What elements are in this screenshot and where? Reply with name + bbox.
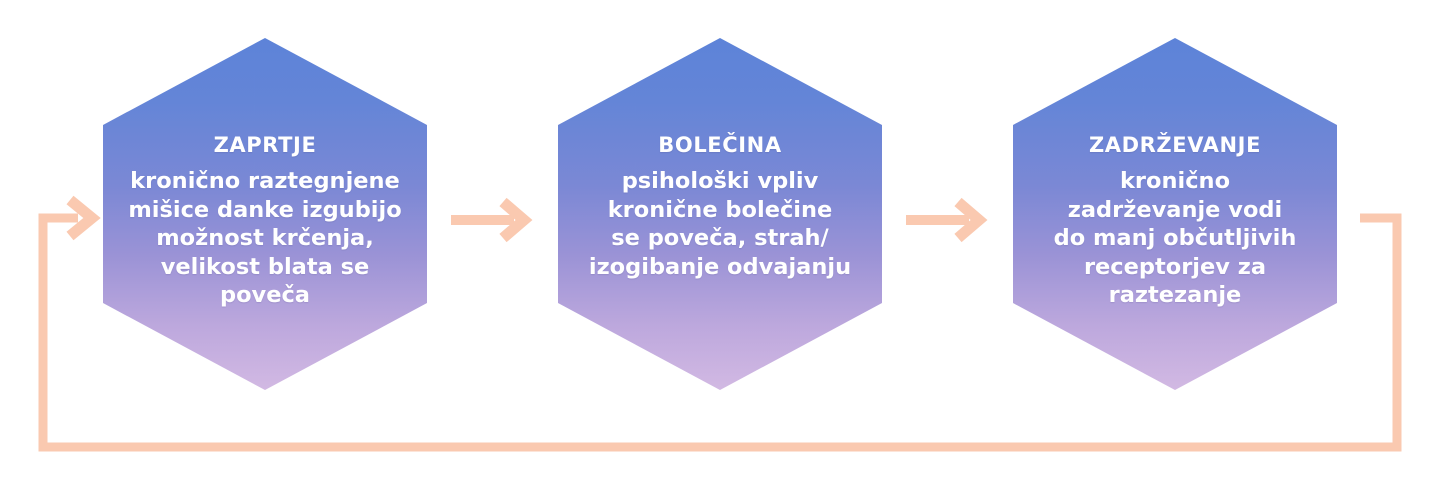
node-zaprtje-line: velikost blata se xyxy=(117,253,413,282)
node-zaprtje-line: mišice danke izgubijo xyxy=(117,196,413,225)
node-bolecina-line: se poveča, strah/ xyxy=(572,224,868,253)
arrow-bolecina-to-zadrzevanje xyxy=(903,194,999,246)
node-zaprtje-line: poveča xyxy=(117,281,413,310)
node-bolecina-line: kronične bolečine xyxy=(572,196,868,225)
node-zadrzevanje-line: zadrževanje vodi xyxy=(1027,196,1323,225)
node-zaprtje-title: ZAPRTJE xyxy=(117,134,413,157)
node-zadrzevanje-line: receptorjev za xyxy=(1027,253,1323,282)
node-zadrzevanje-title: ZADRŽEVANJE xyxy=(1027,134,1323,157)
node-zadrzevanje-body: kronično zadrževanje vodi do manj občutl… xyxy=(1027,167,1323,310)
cycle-diagram: ZAPRTJE kronično raztegnjene mišice dank… xyxy=(0,0,1440,497)
node-zaprtje-line: možnost krčenja, xyxy=(117,224,413,253)
node-bolecina-line: psihološki vpliv xyxy=(572,167,868,196)
node-bolecina-title: BOLEČINA xyxy=(572,134,868,157)
arrow-zaprtje-to-bolecina xyxy=(448,194,544,246)
node-zaprtje-body: kronično raztegnjene mišice danke izgubi… xyxy=(117,167,413,310)
node-zadrzevanje-line: do manj občutljivih xyxy=(1027,224,1323,253)
node-bolecina-line: izogibanje odvajanju xyxy=(572,253,868,282)
node-zaprtje-line: kronično raztegnjene xyxy=(117,167,413,196)
node-zadrzevanje-line: kronično xyxy=(1027,167,1323,196)
node-bolecina-body: psihološki vpliv kronične bolečine se po… xyxy=(572,167,868,281)
node-zadrzevanje-line: raztezanje xyxy=(1027,281,1323,310)
